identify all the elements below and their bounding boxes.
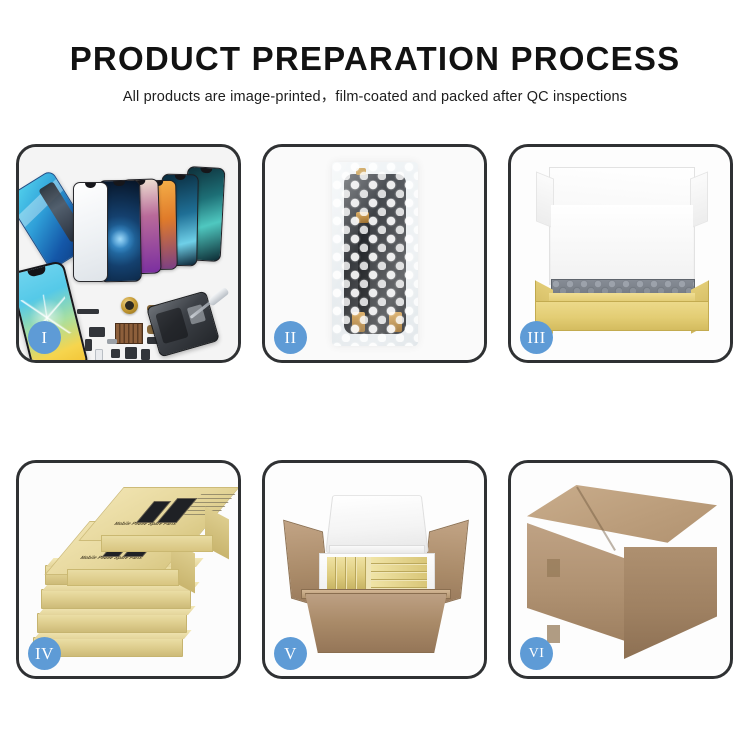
process-step-panel-4: Mobile Phone Spare Parts Mobile Phone Sp… [16,460,241,679]
component-icon [107,339,117,344]
retail-box-row [371,557,427,564]
retail-box-layer [37,613,187,633]
sealed-carton-icon [527,485,717,661]
step-badge-3: III [520,321,553,354]
component-icon [77,309,99,314]
carton-right-face [624,547,717,659]
step-badge-4: IV [28,637,61,670]
process-step-panel-2: II [262,144,487,363]
process-step-panel-6: VI [508,460,733,679]
sim-tray-icon [95,349,103,360]
header: PRODUCT PREPARATION PROCESS All products… [0,38,750,107]
component-icon [85,339,92,351]
process-step-panel-1: I [16,144,241,363]
retail-box-stack-icon: Mobile Phone Spare Parts Mobile Phone Sp… [27,487,233,665]
page-subtitle: All products are image-printed，film-coat… [0,87,750,107]
retail-box-row [371,565,427,572]
component-icon [141,349,150,360]
box-front-face [101,535,213,552]
bubble-wrapped-part-icon [332,162,418,346]
battery-area [155,307,189,344]
box-front-wall [535,301,709,331]
retail-box-edge [337,557,346,589]
carton-tape-patch [547,625,560,643]
camera-module-icon [111,349,120,358]
bare-glass-panel-icon [73,182,108,282]
retail-box-edge [357,557,366,589]
component-icon [125,347,137,359]
carton-front-face [305,593,447,653]
packed-retail-boxes [327,557,427,589]
process-step-panel-5: V [262,460,487,679]
logic-board-icon [115,323,143,344]
page-title: PRODUCT PREPARATION PROCESS [0,38,750,80]
plastic-gloss [332,162,418,346]
retail-box-layer [41,589,191,609]
step-badge-5: V [274,637,307,670]
wallpaper-burst [105,224,136,255]
foam-sheet [551,205,693,281]
retail-box-edge [327,557,336,589]
process-step-panel-3: III [508,144,733,363]
step-badge-6: VI [520,637,553,670]
process-step-grid: I II [16,144,734,679]
component-icon [89,327,105,337]
retail-box-edge [347,557,356,589]
foam-cooler-in-carton-icon [279,479,473,665]
speaker-module-icon [121,297,138,314]
retail-box-row [371,573,427,580]
step-badge-2: II [274,321,307,354]
carton-tape-patch [547,559,560,577]
step-badge-1: I [28,321,61,354]
retail-box-row [371,581,427,588]
box-front-face [67,569,179,586]
open-inner-box-icon [529,167,715,339]
infographic-page: PRODUCT PREPARATION PROCESS All products… [0,0,750,750]
